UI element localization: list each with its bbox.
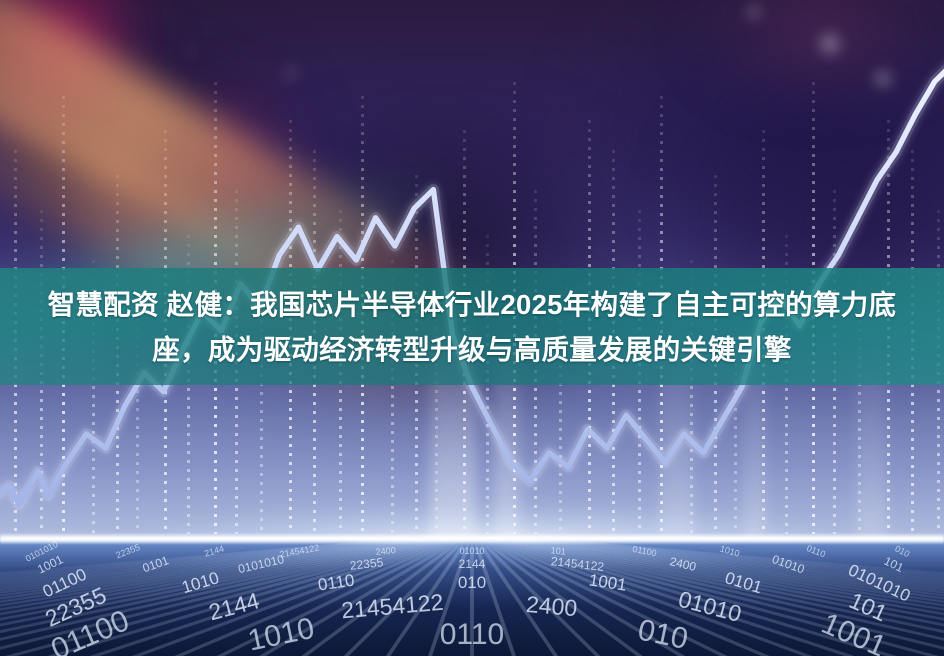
svg-text:0110: 0110 — [440, 618, 505, 651]
floor-binary-digits: 0101010223552144214541222400010101010110… — [0, 538, 944, 656]
svg-text:22355: 22355 — [114, 542, 141, 560]
svg-text:0101: 0101 — [141, 553, 171, 575]
svg-text:2144: 2144 — [459, 557, 486, 571]
svg-text:01010: 01010 — [676, 586, 744, 627]
svg-text:1010: 1010 — [180, 568, 222, 597]
headline-block: 智慧配资 赵健：我国芯片半导体行业2025年构建了自主可控的算力底座，成为驱动经… — [0, 268, 944, 385]
hero-banner: 0101010223552144214541222400010101010110… — [0, 0, 944, 656]
svg-text:2144: 2144 — [206, 587, 262, 625]
perspective-floor: 0101010223552144214541222400010101010110… — [0, 538, 944, 656]
svg-text:010: 010 — [458, 573, 486, 592]
svg-text:2400: 2400 — [525, 591, 578, 621]
svg-text:0101010: 0101010 — [237, 552, 286, 576]
horizon-line — [0, 533, 944, 544]
svg-text:21454122: 21454122 — [340, 589, 444, 624]
svg-text:22355: 22355 — [349, 555, 384, 573]
svg-text:01010: 01010 — [459, 546, 484, 556]
svg-text:2144: 2144 — [203, 544, 225, 559]
svg-text:0110: 0110 — [805, 543, 827, 559]
svg-text:010: 010 — [635, 613, 691, 655]
svg-text:1010: 1010 — [245, 612, 317, 656]
svg-text:21454122: 21454122 — [279, 542, 320, 559]
svg-text:01010: 01010 — [770, 552, 806, 576]
svg-text:1001: 1001 — [588, 570, 628, 594]
svg-text:01100: 01100 — [632, 544, 658, 558]
svg-text:1010: 1010 — [719, 544, 741, 559]
svg-text:2400: 2400 — [668, 554, 697, 574]
svg-text:0101: 0101 — [723, 568, 765, 597]
svg-text:0110: 0110 — [317, 570, 356, 594]
headline-text: 智慧配资 赵健：我国芯片半导体行业2025年构建了自主可控的算力底座，成为驱动经… — [30, 282, 914, 372]
